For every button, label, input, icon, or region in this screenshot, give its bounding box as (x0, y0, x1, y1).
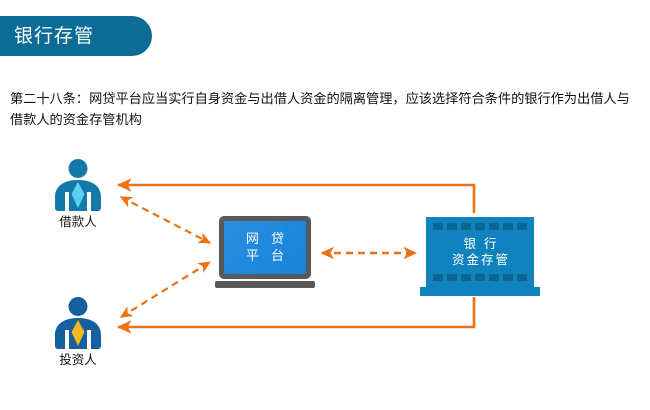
connector-investor-to-platform (121, 262, 210, 317)
platform-label-line2: 平 台 (242, 248, 288, 265)
investor-label: 投资人 (47, 354, 109, 367)
bank-window (433, 223, 443, 230)
borrower-label: 借款人 (47, 216, 109, 229)
header-banner: 银行存管 (0, 16, 152, 56)
bank-window (433, 274, 443, 281)
flow-diagram: 借款人 投资人 网 贷 平 台 (0, 0, 650, 410)
bank-window (489, 223, 499, 230)
platform-label-line1: 网 贷 (242, 231, 288, 248)
bank-window (461, 223, 471, 230)
bank-window (503, 274, 513, 281)
bank-window (461, 274, 471, 281)
bank-window (475, 223, 485, 230)
bank-building-body: 银 行 资金存管 (426, 217, 534, 287)
bank-window (517, 274, 527, 281)
bank-label-line2: 资金存管 (450, 252, 510, 268)
bank-window (489, 274, 499, 281)
connector-bank-to-investor (118, 297, 474, 327)
bank-window (447, 274, 457, 281)
laptop-lid: 网 贷 平 台 (219, 216, 311, 279)
laptop-screen: 网 贷 平 台 (224, 221, 306, 274)
laptop-base (215, 281, 315, 288)
diagram-connectors (0, 0, 650, 410)
bank-window-row-bottom (433, 274, 527, 281)
bank-window-row-top (433, 223, 527, 230)
investor-person-icon (47, 297, 109, 349)
bank-window (503, 223, 513, 230)
borrower-person-icon (47, 159, 109, 211)
node-borrower: 借款人 (47, 159, 109, 229)
connector-bank-to-borrower (118, 185, 474, 213)
node-bank-building: 银 行 资金存管 (420, 217, 540, 296)
bank-label-line1: 银 行 (462, 236, 499, 252)
bank-building-plinth (420, 287, 540, 296)
connector-borrower-to-platform (121, 197, 210, 243)
node-investor: 投资人 (47, 297, 109, 367)
page-title: 银行存管 (0, 27, 94, 46)
bank-window (475, 274, 485, 281)
bank-window (447, 223, 457, 230)
clause-paragraph: 第二十八条：网贷平台应当实行自身资金与出借人资金的隔离管理，应该选择符合条件的银… (10, 89, 642, 131)
bank-window (517, 223, 527, 230)
node-platform-laptop: 网 贷 平 台 (215, 216, 315, 288)
